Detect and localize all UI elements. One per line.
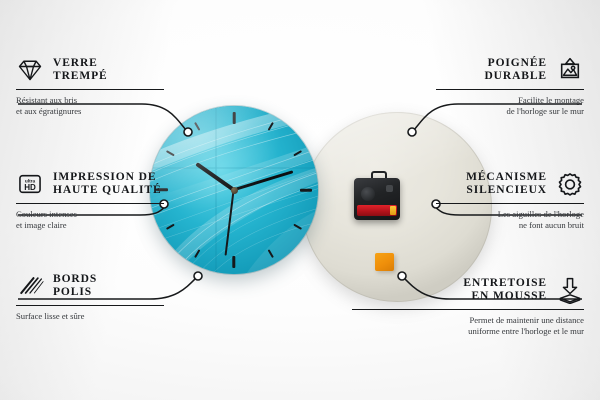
feature-divider bbox=[16, 203, 164, 204]
feature-description: Couleurs intenses et image claire bbox=[16, 209, 236, 230]
diamond-icon bbox=[16, 56, 44, 84]
feature-poignee-durable[interactable]: POIGNÉE DURABLE Facilite le montage de l… bbox=[364, 56, 584, 116]
feature-title: MÉCANISME SILENCIEUX bbox=[466, 171, 547, 197]
polished-edges-icon bbox=[16, 272, 44, 300]
feature-description: Résistant aux bris et aux égratignures bbox=[16, 95, 236, 116]
feature-description: Facilite le montage de l'horloge sur le … bbox=[364, 95, 584, 116]
feature-bords-polis[interactable]: BORDS POLIS Surface lisse et sûre bbox=[16, 272, 236, 322]
feature-title: VERRE TREMPÉ bbox=[53, 57, 108, 83]
feature-entretoise-en-mousse[interactable]: ENTRETOISE EN MOUSSE Permet de maintenir… bbox=[336, 276, 584, 336]
gear-icon bbox=[556, 170, 584, 198]
svg-text:HD: HD bbox=[24, 183, 36, 192]
feature-mecanisme-silencieux[interactable]: MÉCANISME SILENCIEUX Les aiguilles de l'… bbox=[364, 170, 584, 230]
feature-title: BORDS POLIS bbox=[53, 273, 97, 299]
feature-divider bbox=[436, 89, 584, 90]
feature-description: Les aiguilles de l'horloge ne font aucun… bbox=[364, 209, 584, 230]
feature-divider bbox=[352, 309, 584, 310]
feature-title: ENTRETOISE EN MOUSSE bbox=[463, 277, 547, 303]
feature-description: Permet de maintenir une distance uniform… bbox=[336, 315, 584, 336]
feature-impression-haute-qualite[interactable]: ultra HD IMPRESSION DE HAUTE QUALITÉ Cou… bbox=[16, 170, 236, 230]
infographic-canvas: VERRE TREMPÉ Résistant aux bris et aux é… bbox=[0, 0, 600, 400]
feature-verre-trempe[interactable]: VERRE TREMPÉ Résistant aux bris et aux é… bbox=[16, 56, 236, 116]
foam-spacer-pad bbox=[375, 253, 394, 271]
feature-title: POIGNÉE DURABLE bbox=[484, 57, 547, 83]
feature-title: IMPRESSION DE HAUTE QUALITÉ bbox=[53, 171, 162, 197]
feature-divider bbox=[436, 203, 584, 204]
feature-description: Surface lisse et sûre bbox=[16, 311, 236, 321]
feature-divider bbox=[16, 305, 164, 306]
hanging-frame-icon bbox=[556, 56, 584, 84]
ultra-hd-icon: ultra HD bbox=[16, 170, 44, 198]
feature-divider bbox=[16, 89, 164, 90]
foam-spacer-icon bbox=[556, 276, 584, 304]
